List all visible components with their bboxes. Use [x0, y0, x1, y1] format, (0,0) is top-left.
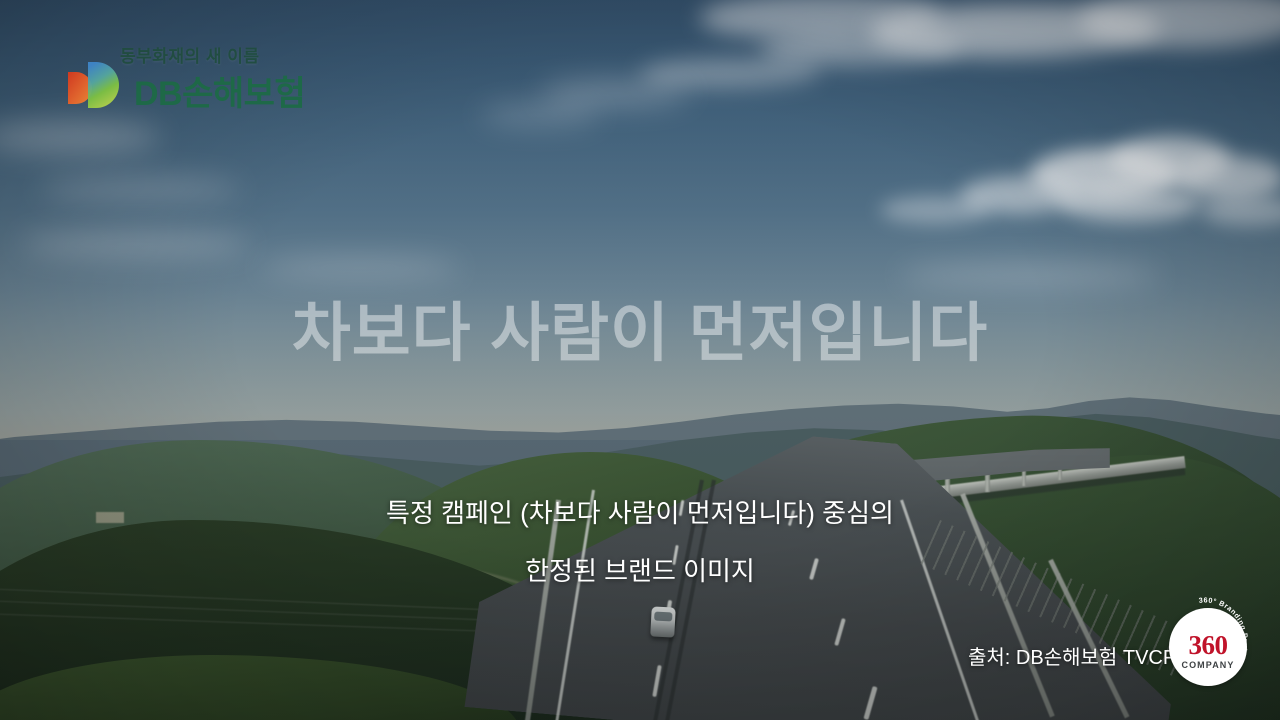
- badge-company-label: COMPANY: [1169, 660, 1247, 670]
- db-logo-mark-icon: [64, 58, 126, 114]
- logo-wordmark: DB손해보험: [134, 66, 305, 115]
- source-credit: 출처: DB손해보험 TVCF: [968, 641, 1175, 670]
- caption-block: 특정 캠페인 (차보다 사람이 먼저입니다) 중심의 한정된 브랜드 이미지: [0, 484, 1280, 600]
- badge-number: 360: [1169, 632, 1247, 659]
- car-on-highway: [650, 606, 676, 637]
- logo-tagline: 동부화재의 새 이름: [120, 42, 260, 67]
- page-title: 차보다 사람이 먼저입니다: [0, 282, 1280, 374]
- company-badge-logo: 360° Branding Professional 360 COMPANY: [1169, 608, 1247, 686]
- slide-canvas: 동부화재의 새 이름: [0, 0, 1280, 720]
- caption-line-2: 한정된 브랜드 이미지: [0, 542, 1280, 600]
- caption-line-1: 특정 캠페인 (차보다 사람이 먼저입니다) 중심의: [0, 484, 1280, 542]
- db-insurance-logo: 동부화재의 새 이름: [64, 36, 314, 116]
